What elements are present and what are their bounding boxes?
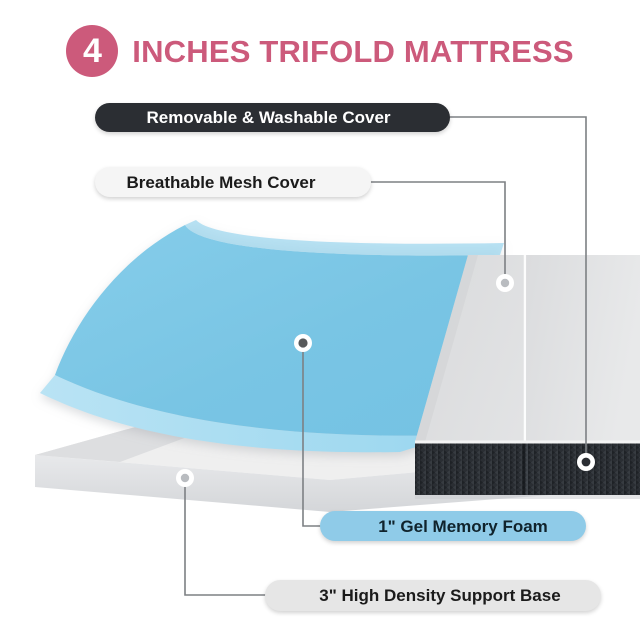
callout-label: Removable & Washable Cover (146, 109, 390, 126)
callout-label: Breathable Mesh Cover (127, 174, 316, 191)
callout-label: 1" Gel Memory Foam (378, 518, 548, 535)
callout-high-density-support-base[interactable]: 3" High Density Support Base (265, 580, 601, 611)
page-header: 4 INCHES TRIFOLD MATTRESS (0, 18, 640, 84)
callout-label: 3" High Density Support Base (319, 587, 560, 604)
product-infographic: 4 INCHES TRIFOLD MATTRESS Removable & Wa… (0, 0, 640, 640)
callout-breathable-mesh-cover[interactable]: Breathable Mesh Cover (95, 167, 371, 197)
dot-support-base-core (181, 474, 189, 482)
dot-removable-cover-core (582, 458, 591, 467)
callout-gel-memory-foam[interactable]: 1" Gel Memory Foam (320, 511, 586, 541)
page-title: INCHES TRIFOLD MATTRESS (132, 36, 573, 67)
inches-badge: 4 (66, 25, 118, 77)
dot-breathable-mesh-core (501, 279, 509, 287)
dot-gel-foam-core (298, 338, 307, 347)
trifold-mattress-illustration (0, 0, 640, 640)
callout-removable-washable-cover[interactable]: Removable & Washable Cover (95, 103, 450, 132)
badge-number: 4 (83, 34, 101, 68)
